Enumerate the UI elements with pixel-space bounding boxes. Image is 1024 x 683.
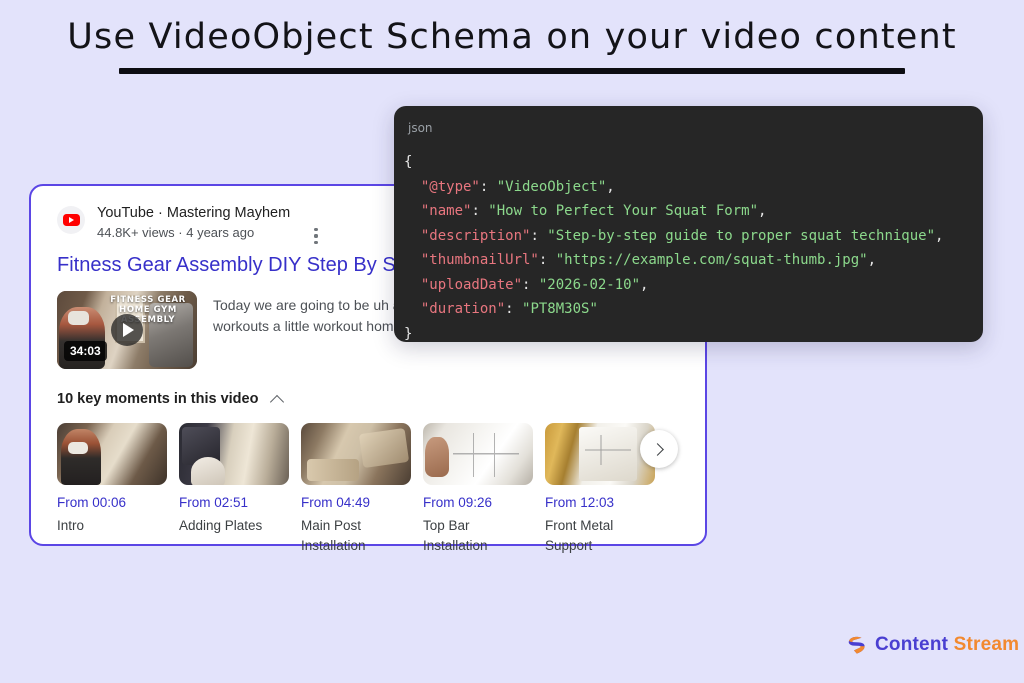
chevron-right-icon[interactable] [640, 430, 678, 468]
key-moment-item[interactable]: From 12:03 Front Metal Support [545, 423, 655, 556]
key-moment-label: Main Post Installation [301, 516, 411, 556]
youtube-icon [57, 206, 85, 234]
code-key: "uploadDate" [404, 277, 522, 293]
key-moment-time[interactable]: From 04:49 [301, 494, 411, 511]
code-value: "2026-02-10" [539, 277, 640, 293]
key-moment-label: Top Bar Installation [423, 516, 533, 556]
code-line: "uploadDate": "2026-02-10", [404, 273, 983, 298]
code-key: "name" [404, 203, 471, 219]
code-colon: : [505, 301, 522, 317]
key-moments-title: 10 key moments in this video [57, 391, 258, 407]
key-moment-time[interactable]: From 02:51 [179, 494, 289, 511]
dot [314, 228, 317, 231]
code-value: "https://example.com/squat-thumb.jpg" [556, 252, 868, 268]
video-description-line: Today we are going to be uh ass [213, 295, 415, 316]
key-moment-time[interactable]: From 00:06 [57, 494, 167, 511]
code-colon: : [522, 277, 539, 293]
code-key: "description" [404, 228, 530, 244]
dot [314, 241, 317, 244]
code-language-label: json [394, 120, 983, 136]
code-key: "@type" [404, 179, 480, 195]
brand-name: Content Stream [875, 634, 1019, 656]
key-moment-item[interactable]: From 09:26 Top Bar Installation [423, 423, 533, 556]
code-value: "How to Perfect Your Squat Form" [488, 203, 758, 219]
key-moment-thumbnail[interactable] [179, 423, 289, 485]
code-colon: : [539, 252, 556, 268]
code-value: "PT8M30S" [522, 301, 598, 317]
code-comma: , [606, 179, 614, 195]
video-description-line: workouts a little workout home g [213, 316, 415, 337]
key-moment-item[interactable]: From 04:49 Main Post Installation [301, 423, 411, 556]
code-comma: , [935, 228, 943, 244]
content-stream-logo-icon [845, 634, 867, 656]
json-code-panel: json { "@type": "VideoObject", "name": "… [394, 106, 983, 342]
code-colon: : [471, 203, 488, 219]
code-colon: : [480, 179, 497, 195]
serp-meta: 44.8K+ views · 4 years ago [97, 224, 290, 242]
play-icon[interactable] [111, 314, 143, 346]
code-line: } [404, 322, 983, 343]
youtube-play-badge [63, 214, 80, 226]
key-moment-label: Front Metal Support [545, 516, 655, 556]
video-duration-badge: 34:03 [64, 341, 107, 361]
key-moment-item[interactable]: From 00:06 Intro [57, 423, 167, 556]
key-moment-label: Adding Plates [179, 516, 289, 536]
code-key: "thumbnailUrl" [404, 252, 539, 268]
page-title: Use VideoObject Schema on your video con… [0, 14, 1024, 60]
brand-logo: Content Stream [845, 634, 1019, 656]
more-vertical-icon[interactable] [307, 226, 325, 246]
key-moments-strip: From 00:06 Intro From 02:51 Adding Plate… [57, 423, 683, 556]
key-moment-thumbnail[interactable] [57, 423, 167, 485]
title-underline [119, 68, 905, 74]
serp-source-block: YouTube · Mastering Mayhem 44.8K+ views … [97, 204, 290, 242]
key-moment-thumbnail[interactable] [423, 423, 533, 485]
dot [314, 234, 317, 237]
key-moment-time[interactable]: From 09:26 [423, 494, 533, 511]
key-moment-time[interactable]: From 12:03 [545, 494, 655, 511]
serp-source: YouTube · Mastering Mayhem [97, 204, 290, 222]
code-content: { "@type": "VideoObject", "name": "How t… [394, 136, 983, 342]
brand-word-content: Content [875, 634, 948, 655]
code-colon: : [530, 228, 547, 244]
key-moment-item[interactable]: From 02:51 Adding Plates [179, 423, 289, 556]
key-moments-toggle[interactable]: 10 key moments in this video [57, 391, 683, 407]
code-value: "Step-by-step guide to proper squat tech… [547, 228, 935, 244]
code-line: "@type": "VideoObject", [404, 175, 983, 200]
chevron-up-icon[interactable] [271, 393, 284, 406]
code-value: "VideoObject" [497, 179, 607, 195]
key-moment-thumbnail[interactable] [301, 423, 411, 485]
code-comma: , [868, 252, 876, 268]
page-header: Use VideoObject Schema on your video con… [0, 14, 1024, 74]
code-line: "name": "How to Perfect Your Squat Form"… [404, 199, 983, 224]
key-moment-thumbnail[interactable] [545, 423, 655, 485]
key-moment-label: Intro [57, 516, 167, 536]
code-punctuation: } [404, 326, 412, 342]
code-comma: , [758, 203, 766, 219]
code-line: { [404, 150, 983, 175]
video-description: Today we are going to be uh ass workouts… [213, 291, 415, 369]
code-key: "duration" [404, 301, 505, 317]
brand-word-stream: Stream [954, 634, 1020, 655]
thumbnail-mask-detail [68, 311, 89, 325]
code-comma: , [640, 277, 648, 293]
video-thumbnail[interactable]: FITNESS GEAR HOME GYM ASSEMBLY 34:03 [57, 291, 197, 369]
code-line: "duration": "PT8M30S" [404, 297, 983, 322]
code-punctuation: { [404, 154, 412, 170]
code-line: "description": "Step-by-step guide to pr… [404, 224, 983, 249]
code-line: "thumbnailUrl": "https://example.com/squ… [404, 248, 983, 273]
